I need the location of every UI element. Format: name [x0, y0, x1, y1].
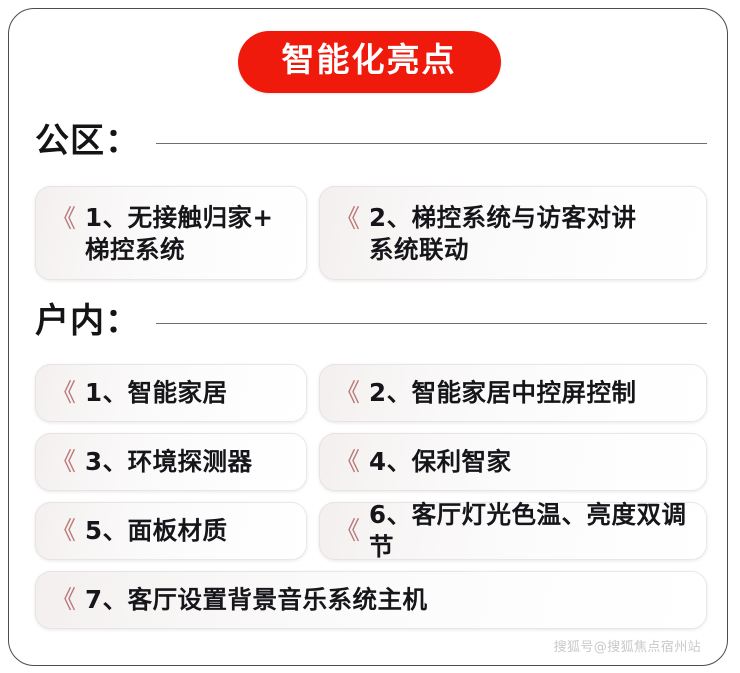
chevron-double-left-icon: 《: [335, 449, 360, 474]
list-item-label: 2、梯控系统与访客对讲 系统联动: [369, 200, 695, 266]
chevron-double-left-icon: 《: [51, 449, 76, 474]
section-title-indoor: 户内：: [35, 301, 140, 341]
section-header-indoor: 户内：: [35, 301, 707, 341]
chevron-double-left-icon: 《: [335, 206, 360, 231]
content-frame: 智能化亮点 公区： 《 1、无接触归家+ 梯控系统 《 2、梯控系统与访客对讲 …: [8, 8, 728, 666]
section-divider-indoor: [156, 323, 707, 324]
watermark-text: 搜狐号@搜狐焦点宿州站: [554, 636, 701, 655]
list-item[interactable]: 《 7、客厅设置背景音乐系统主机: [35, 571, 707, 629]
chevron-double-left-icon: 《: [51, 518, 76, 543]
list-item[interactable]: 《 2、梯控系统与访客对讲 系统联动: [319, 186, 707, 280]
chevron-double-left-icon: 《: [51, 587, 76, 612]
list-item[interactable]: 《 4、保利智家: [319, 433, 707, 491]
list-item-label: 7、客厅设置背景音乐系统主机: [85, 584, 695, 616]
chevron-double-left-icon: 《: [51, 380, 76, 405]
list-item[interactable]: 《 1、智能家居: [35, 364, 307, 422]
list-item-label: 6、客厅灯光色温、亮度双调节: [369, 499, 695, 563]
chevron-double-left-icon: 《: [335, 518, 360, 543]
chevron-double-left-icon: 《: [51, 206, 76, 231]
section-divider-public-area: [156, 143, 707, 144]
list-item-label: 1、智能家居: [85, 377, 295, 409]
list-item[interactable]: 《 2、智能家居中控屏控制: [319, 364, 707, 422]
list-item-label: 1、无接触归家+ 梯控系统: [85, 200, 295, 266]
chevron-double-left-icon: 《: [335, 380, 360, 405]
page-title: 智能化亮点: [282, 40, 457, 80]
list-item-label: 4、保利智家: [369, 446, 695, 478]
section-header-public-area: 公区：: [35, 121, 707, 161]
list-item-label: 3、环境探测器: [85, 446, 295, 478]
page-root: 智能化亮点 公区： 《 1、无接触归家+ 梯控系统 《 2、梯控系统与访客对讲 …: [0, 0, 740, 673]
list-item[interactable]: 《 3、环境探测器: [35, 433, 307, 491]
title-row: 智能化亮点: [9, 31, 728, 93]
section-title-public-area: 公区：: [35, 121, 140, 161]
list-item[interactable]: 《 5、面板材质: [35, 502, 307, 560]
list-item-label: 5、面板材质: [85, 515, 295, 547]
list-item[interactable]: 《 1、无接触归家+ 梯控系统: [35, 186, 307, 280]
list-item[interactable]: 《 6、客厅灯光色温、亮度双调节: [319, 502, 707, 560]
page-title-badge: 智能化亮点: [238, 31, 501, 93]
list-item-label: 2、智能家居中控屏控制: [369, 377, 695, 409]
